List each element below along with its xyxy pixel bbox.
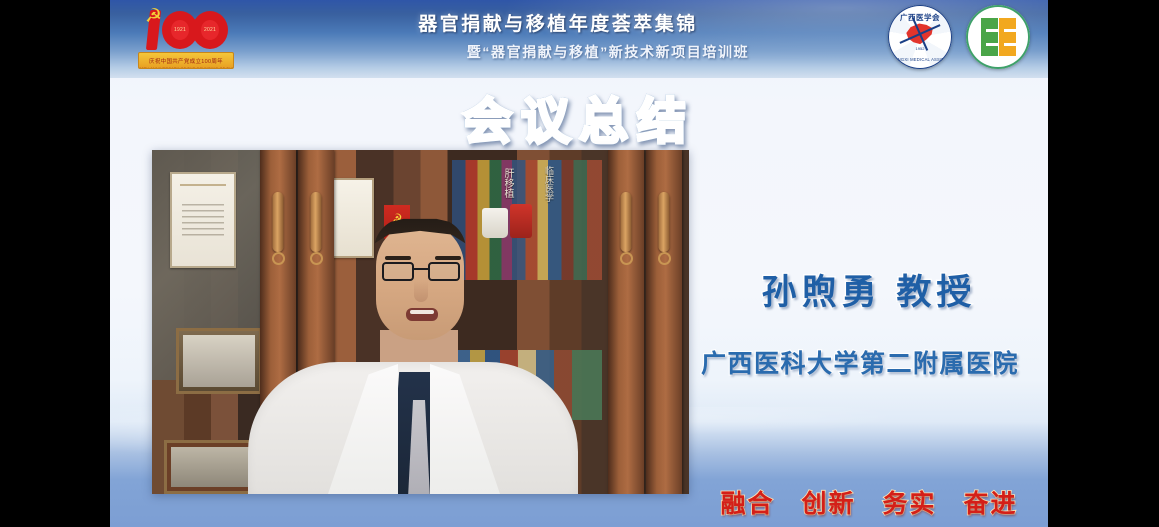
header-banner: 1921 2021 ☭ 庆祝中国共产党成立100周年 THE 100TH ANN… — [110, 0, 1048, 78]
cpc-year-end: 2021 — [201, 27, 219, 33]
speaker-eyebrow-left — [385, 256, 411, 260]
speaker-nose — [414, 280, 428, 302]
cpc-logo-ribbon: 庆祝中国共产党成立100周年 THE 100TH ANNIVERSARY OF … — [138, 52, 234, 69]
eyeglasses-lens-right — [428, 262, 460, 281]
green-institution-logo — [966, 5, 1030, 69]
green-logo-stripe-right — [999, 18, 1016, 56]
guangxi-medical-association-logo: 广西医学会 1952 GUANGXI MEDICAL ASSOCIATION — [888, 5, 952, 69]
page-title: 会议总结 — [110, 82, 1048, 153]
speaker-eyebrow-right — [435, 256, 461, 260]
eyeglasses-icon — [382, 262, 460, 282]
screen: 1921 2021 ☭ 庆祝中国共产党成立100周年 THE 100TH ANN… — [0, 0, 1159, 527]
slogan-word-1: 融合 — [721, 490, 775, 518]
green-logo-stripe-left — [981, 18, 998, 56]
gxma-logo-year: 1952 — [888, 46, 952, 51]
slide-stage: 1921 2021 ☭ 庆祝中国共产党成立100周年 THE 100TH ANN… — [110, 0, 1048, 527]
speaker-organization: 广西医科大学第二附属医院 — [670, 344, 1048, 380]
speaker-person — [152, 150, 689, 494]
cpc-ribbon-en-text: THE 100TH ANNIVERSARY OF THE FOUNDING OF… — [138, 68, 234, 69]
letterbox-right — [1048, 0, 1159, 527]
eyeglasses-bridge — [414, 268, 428, 270]
conference-slogan: 融合 创新 务实 奋进 — [690, 484, 1048, 520]
cpc-100-anniversary-logo: 1921 2021 ☭ 庆祝中国共产党成立100周年 THE 100TH ANN… — [136, 4, 236, 72]
event-subtitle: 暨“器官捐献与移植”新技术新项目培训班 — [328, 42, 888, 62]
header-logo-group: 广西医学会 1952 GUANGXI MEDICAL ASSOCIATION — [888, 5, 1030, 69]
cpc-100-numerals: 1921 2021 ☭ — [142, 6, 230, 54]
speaker-name: 孙煦勇 教授 — [690, 264, 1048, 315]
speaker-mouth — [406, 308, 438, 321]
cpc-year-start: 1921 — [171, 27, 189, 33]
letterbox-left — [0, 0, 110, 527]
cpc-digit-zero-second: 2021 — [192, 11, 228, 49]
event-title: 器官捐献与移植年度荟萃集锦 — [298, 9, 818, 36]
speaker-video-feed[interactable]: 肝移植 临床医学 — [152, 150, 689, 494]
slogan-word-4: 奋进 — [963, 490, 1017, 518]
eyeglasses-lens-left — [382, 262, 414, 281]
hammer-and-sickle-icon: ☭ — [145, 6, 171, 30]
slogan-word-3: 务实 — [882, 490, 936, 518]
slogan-word-2: 创新 — [802, 490, 856, 518]
gxma-logo-cn-text: 广西医学会 — [888, 12, 952, 23]
cpc-ribbon-cn-text: 庆祝中国共产党成立100周年 — [149, 59, 223, 65]
gxma-logo-en-text: GUANGXI MEDICAL ASSOCIATION — [888, 57, 952, 62]
page-title-text: 会议总结 — [463, 82, 695, 153]
